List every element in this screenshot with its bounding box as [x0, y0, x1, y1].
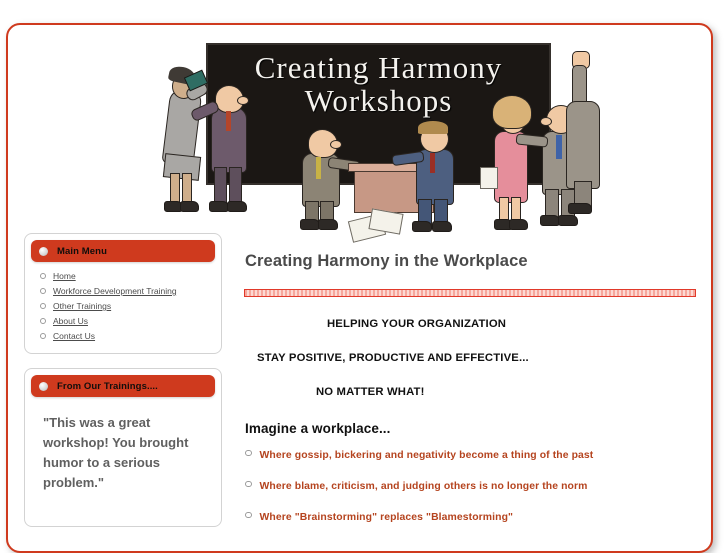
imagine-heading: Imagine a workplace...: [245, 421, 704, 436]
figure-shoe-left: [540, 215, 560, 226]
sidebar-item-label[interactable]: Home: [53, 271, 76, 281]
circle-marker-icon: [245, 512, 252, 519]
circle-marker-icon: [40, 333, 46, 339]
page-frame: Creating Harmony Workshops: [6, 23, 713, 553]
circle-marker-icon: [40, 303, 46, 309]
list-item[interactable]: Where "Brainstorming" replaces "Blamesto…: [245, 512, 704, 523]
figure-shoe-left: [209, 201, 229, 212]
list-item[interactable]: Where blame, criticism, and judging othe…: [245, 481, 704, 492]
list-item-label[interactable]: Where gossip, bickering and negativity b…: [260, 450, 594, 461]
main-content: Creating Harmony in the Workplace HELPIN…: [239, 239, 704, 543]
cartoon-figure-3: [294, 127, 358, 235]
figure-shoe-right: [180, 201, 199, 212]
testimonial-title: From Our Trainings....: [57, 381, 158, 392]
benefits-list: Where gossip, bickering and negativity b…: [239, 450, 704, 523]
circle-marker-icon: [40, 318, 46, 324]
sidebar: Main Menu Home Workforce Development Tra…: [24, 233, 222, 541]
figure-shoe-right: [509, 219, 528, 230]
figure-shoe-right: [227, 201, 247, 212]
circle-marker-icon: [245, 481, 252, 488]
main-menu-panel: Main Menu Home Workforce Development Tra…: [24, 233, 222, 354]
cartoon-figure-7: [566, 49, 600, 229]
list-item[interactable]: Where gossip, bickering and negativity b…: [245, 450, 704, 461]
circle-marker-icon: [40, 273, 46, 279]
figure-shoe-left: [412, 221, 432, 232]
main-menu-header: Main Menu: [31, 240, 215, 262]
bullet-dot-icon: [39, 382, 48, 391]
figure-tie: [556, 135, 562, 159]
circle-marker-icon: [245, 450, 252, 457]
sidebar-item-label[interactable]: Contact Us: [53, 331, 95, 341]
list-item-label[interactable]: Where "Brainstorming" replaces "Blamesto…: [260, 512, 514, 523]
main-menu-title: Main Menu: [57, 246, 107, 257]
testimonial-quote: "This was a great workshop! You brought …: [31, 397, 215, 520]
figure-nose: [330, 140, 342, 149]
figure-tie: [430, 153, 435, 173]
sidebar-item-contact-us[interactable]: Contact Us: [40, 331, 215, 341]
tagline-1: HELPING YOUR ORGANIZATION: [327, 318, 704, 330]
sidebar-item-label[interactable]: Workforce Development Training: [53, 286, 177, 296]
figure-nose: [237, 96, 249, 105]
sidebar-item-label[interactable]: About Us: [53, 316, 88, 326]
figure-shoe-right: [318, 219, 338, 230]
horizontal-rule: [244, 289, 696, 297]
testimonial-header: From Our Trainings....: [31, 375, 215, 397]
figure-shoe-right: [432, 221, 452, 232]
figure-torso: [566, 101, 600, 189]
testimonial-panel: From Our Trainings.... "This was a great…: [24, 368, 222, 527]
list-item-label[interactable]: Where blame, criticism, and judging othe…: [260, 481, 588, 492]
figure-tie: [316, 157, 321, 179]
figure-shoe-left: [300, 219, 320, 230]
sidebar-item-about-us[interactable]: About Us: [40, 316, 215, 326]
bullet-dot-icon: [39, 247, 48, 256]
site-banner-image: Creating Harmony Workshops: [154, 39, 594, 239]
tagline-2: STAY POSITIVE, PRODUCTIVE AND EFFECTIVE.…: [257, 352, 704, 364]
figure-hair: [418, 121, 448, 134]
figure-shoe: [568, 203, 592, 214]
sidebar-item-home[interactable]: Home: [40, 271, 215, 281]
sidebar-item-label[interactable]: Other Trainings: [53, 301, 111, 311]
main-menu-list: Home Workforce Development Training Othe…: [31, 271, 215, 341]
figure-tie: [226, 111, 231, 131]
figure-hair: [492, 95, 532, 129]
figure-paper: [480, 167, 498, 189]
circle-marker-icon: [40, 288, 46, 294]
sidebar-item-workforce-development-training[interactable]: Workforce Development Training: [40, 286, 215, 296]
cartoon-figure-4: [404, 123, 466, 235]
cartoon-figure-2: [199, 81, 259, 221]
sidebar-item-other-trainings[interactable]: Other Trainings: [40, 301, 215, 311]
page-title: Creating Harmony in the Workplace: [245, 252, 704, 271]
tagline-3: NO MATTER WHAT!: [316, 386, 704, 398]
figure-nose: [540, 117, 552, 126]
banner-title-line-1: Creating Harmony: [208, 51, 549, 84]
